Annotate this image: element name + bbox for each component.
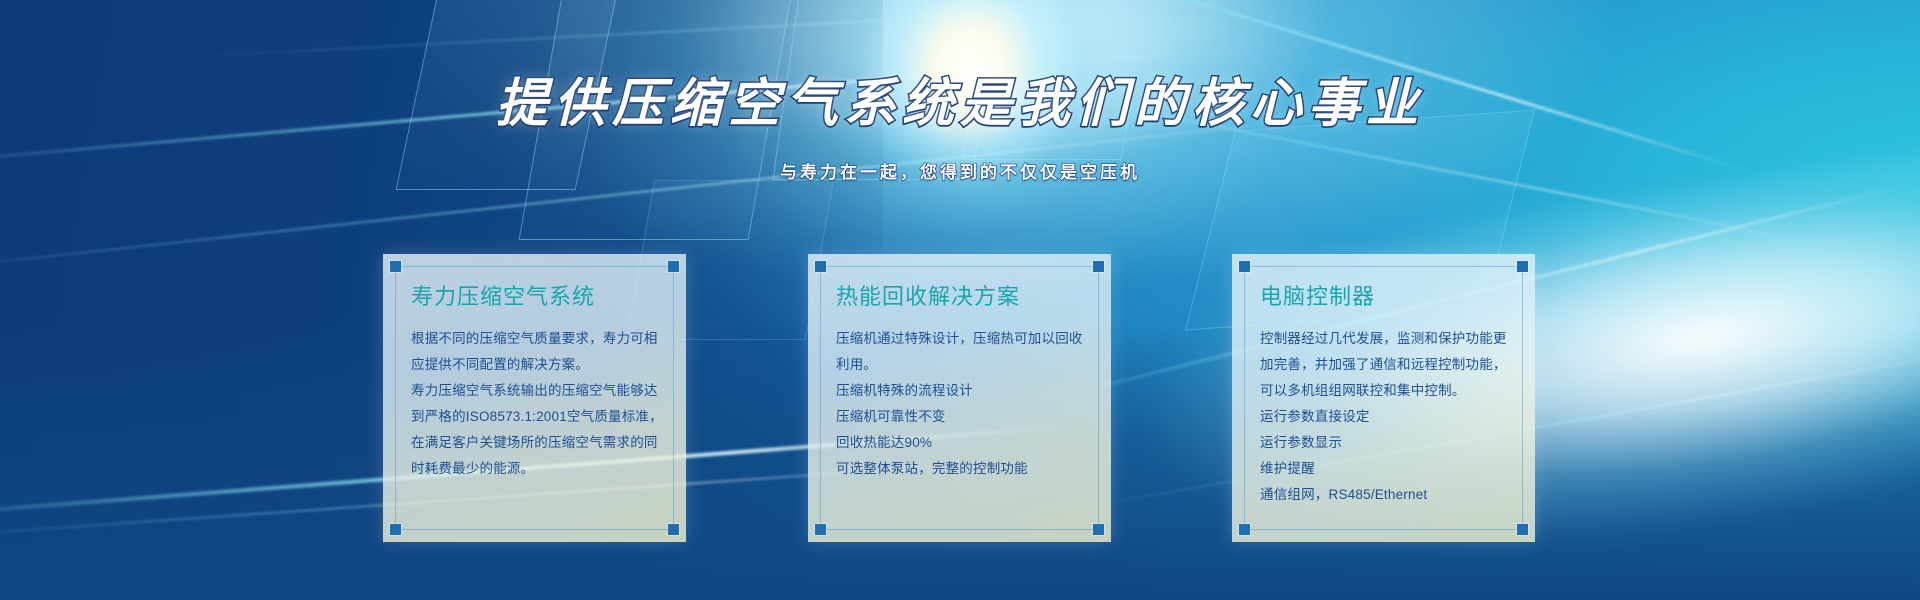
card-text-line: 回收热能达90% <box>836 430 1091 456</box>
corner-square-top-right <box>668 261 679 272</box>
corner-square-bottom-left <box>815 524 826 535</box>
card-text-line: 可以多机组组网联控和集中控制。 <box>1260 378 1515 404</box>
card-text-line: 加完善，并加强了通信和远程控制功能， <box>1260 352 1515 378</box>
card-text-line: 运行参数直接设定 <box>1260 404 1515 430</box>
info-card[interactable]: 寿力压缩空气系统 根据不同的压缩空气质量要求，寿力可相 应提供不同配置的解决方案… <box>383 254 686 542</box>
banner-subtitle: 与寿力在一起，您得到的不仅仅是空压机 <box>780 158 1140 183</box>
card-text-line: 应提供不同配置的解决方案。 <box>411 352 666 378</box>
card-text-line: 压缩机特殊的流程设计 <box>836 378 1091 404</box>
corner-square-bottom-left <box>390 524 401 535</box>
card-text-line: 通信组网，RS485/Ethernet <box>1260 482 1515 508</box>
card-title: 电脑控制器 <box>1260 284 1515 310</box>
corner-square-bottom-right <box>1517 524 1528 535</box>
corner-square-top-right <box>1517 261 1528 272</box>
corner-square-bottom-right <box>668 524 679 535</box>
info-card-list: 寿力压缩空气系统 根据不同的压缩空气质量要求，寿力可相 应提供不同配置的解决方案… <box>0 254 1920 544</box>
card-text-line: 压缩机可靠性不变 <box>836 404 1091 430</box>
corner-square-bottom-right <box>1093 524 1104 535</box>
card-text-line: 压缩机通过特殊设计，压缩热可加以回收 <box>836 326 1091 352</box>
corner-square-top-right <box>1093 261 1104 272</box>
card-text-line: 时耗费最少的能源。 <box>411 456 666 482</box>
card-title: 热能回收解决方案 <box>836 284 1091 310</box>
banner-headline: 提供压缩空气系统是我们的核心事业 <box>496 78 1424 130</box>
corner-square-bottom-left <box>1239 524 1250 535</box>
card-text-line: 寿力压缩空气系统输出的压缩空气能够达 <box>411 378 666 404</box>
card-text-line: 在满足客户关键场所的压缩空气需求的同 <box>411 430 666 456</box>
card-text-line: 可选整体泵站，完整的控制功能 <box>836 456 1091 482</box>
corner-square-top-left <box>815 261 826 272</box>
card-text-line: 维护提醒 <box>1260 456 1515 482</box>
card-text-line: 运行参数显示 <box>1260 430 1515 456</box>
info-card[interactable]: 电脑控制器 控制器经过几代发展，监测和保护功能更 加完善，并加强了通信和远程控制… <box>1232 254 1535 542</box>
headline-container: 提供压缩空气系统是我们的核心事业 <box>0 78 1920 130</box>
corner-square-top-left <box>1239 261 1250 272</box>
promo-banner: 提供压缩空气系统是我们的核心事业 与寿力在一起，您得到的不仅仅是空压机 寿力压缩… <box>0 0 1920 600</box>
card-text-line: 利用。 <box>836 352 1091 378</box>
card-text-line: 根据不同的压缩空气质量要求，寿力可相 <box>411 326 666 352</box>
info-card[interactable]: 热能回收解决方案 压缩机通过特殊设计，压缩热可加以回收 利用。 压缩机特殊的流程… <box>808 254 1111 542</box>
card-body: 电脑控制器 控制器经过几代发展，监测和保护功能更 加完善，并加强了通信和远程控制… <box>1260 284 1515 508</box>
card-body: 热能回收解决方案 压缩机通过特殊设计，压缩热可加以回收 利用。 压缩机特殊的流程… <box>836 284 1091 482</box>
card-body: 寿力压缩空气系统 根据不同的压缩空气质量要求，寿力可相 应提供不同配置的解决方案… <box>411 284 666 482</box>
corner-square-top-left <box>390 261 401 272</box>
card-text-line: 控制器经过几代发展，监测和保护功能更 <box>1260 326 1515 352</box>
subtitle-container: 与寿力在一起，您得到的不仅仅是空压机 <box>0 158 1920 183</box>
card-title: 寿力压缩空气系统 <box>411 284 666 310</box>
card-text-line: 到严格的ISO8573.1:2001空气质量标准， <box>411 404 666 430</box>
